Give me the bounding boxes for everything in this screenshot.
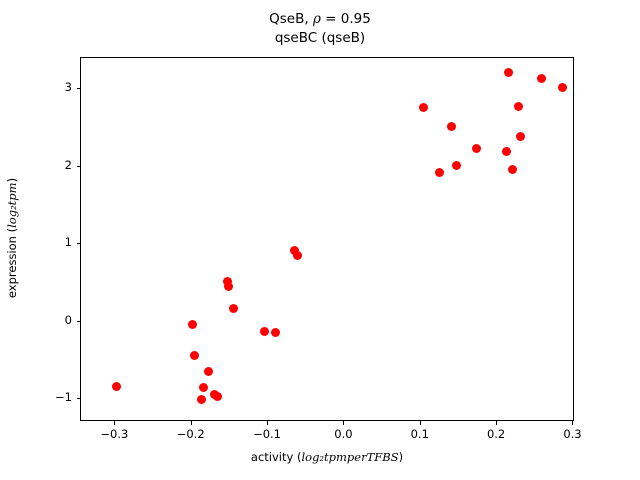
chart-title: QseB, ρ = 0.95 [0, 10, 640, 29]
scatter-point [213, 392, 222, 401]
y-tick-mark [77, 243, 81, 244]
x-tick-mark [496, 421, 497, 425]
scatter-point [508, 165, 517, 174]
x-tick-label: 0.2 [466, 427, 526, 441]
scatter-point [224, 282, 233, 291]
x-axis-label-math: log₂tpmperTFBS [301, 450, 398, 464]
x-tick-label: 0.0 [313, 427, 373, 441]
chart-title-prefix: QseB, [269, 11, 313, 27]
scatter-point [112, 382, 121, 391]
scatter-point [472, 144, 481, 153]
y-axis-label-math: log₂tpm [5, 182, 19, 227]
x-tick-label: 0.1 [390, 427, 450, 441]
x-tick-label: 0.3 [542, 427, 602, 441]
scatter-point [190, 351, 199, 360]
scatter-point [447, 122, 456, 131]
scatter-point [204, 367, 213, 376]
scatter-point [229, 304, 238, 313]
y-tick-label: 2 [26, 158, 72, 172]
x-tick-label: −0.2 [161, 427, 221, 441]
rho-symbol: ρ [313, 11, 321, 27]
scatter-point [197, 395, 206, 404]
scatter-point [199, 383, 208, 392]
figure-canvas: QseB, ρ = 0.95 qseBC (qseB) −0.3−0.2−0.1… [0, 0, 640, 480]
scatter-point [537, 74, 546, 83]
chart-title-value: = 0.95 [321, 11, 371, 27]
chart-subtitle: qseBC (qseB) [0, 29, 640, 48]
x-tick-mark [114, 421, 115, 425]
scatter-point [514, 102, 523, 111]
chart-title-block: QseB, ρ = 0.95 qseBC (qseB) [0, 10, 640, 48]
y-tick-label: 0 [26, 313, 72, 327]
y-tick-mark [77, 321, 81, 322]
scatter-point [271, 328, 280, 337]
y-tick-mark [77, 398, 81, 399]
x-tick-label: −0.3 [84, 427, 144, 441]
y-tick-mark [77, 166, 81, 167]
x-tick-mark [572, 421, 573, 425]
scatter-point [516, 132, 525, 141]
scatter-point [452, 161, 461, 170]
scatter-point [419, 103, 428, 112]
x-tick-mark [420, 421, 421, 425]
x-tick-mark [343, 421, 344, 425]
y-axis-label-text: expression ( [5, 228, 19, 298]
scatter-point [558, 83, 567, 92]
x-axis-label-close: ) [399, 450, 404, 464]
y-axis-label-close: ) [5, 178, 19, 183]
scatter-point [435, 168, 444, 177]
y-axis-label-wrap: expression (log₂tpm) [0, 57, 24, 421]
y-tick-label: 1 [26, 235, 72, 249]
x-axis-label-text: activity ( [251, 450, 302, 464]
y-tick-label: −1 [26, 390, 72, 404]
scatter-point [188, 320, 197, 329]
plot-axes-frame [80, 57, 574, 421]
x-tick-mark [191, 421, 192, 425]
y-tick-mark [77, 88, 81, 89]
x-axis-label: activity (log₂tpmperTFBS) [80, 450, 574, 464]
scatter-point [502, 147, 511, 156]
scatter-point [504, 68, 513, 77]
scatter-plot-area [81, 58, 573, 420]
scatter-point [260, 327, 269, 336]
x-tick-label: −0.1 [237, 427, 297, 441]
scatter-point [293, 251, 302, 260]
x-tick-mark [267, 421, 268, 425]
y-tick-label: 3 [26, 80, 72, 94]
y-axis-label: expression (log₂tpm) [5, 56, 19, 420]
